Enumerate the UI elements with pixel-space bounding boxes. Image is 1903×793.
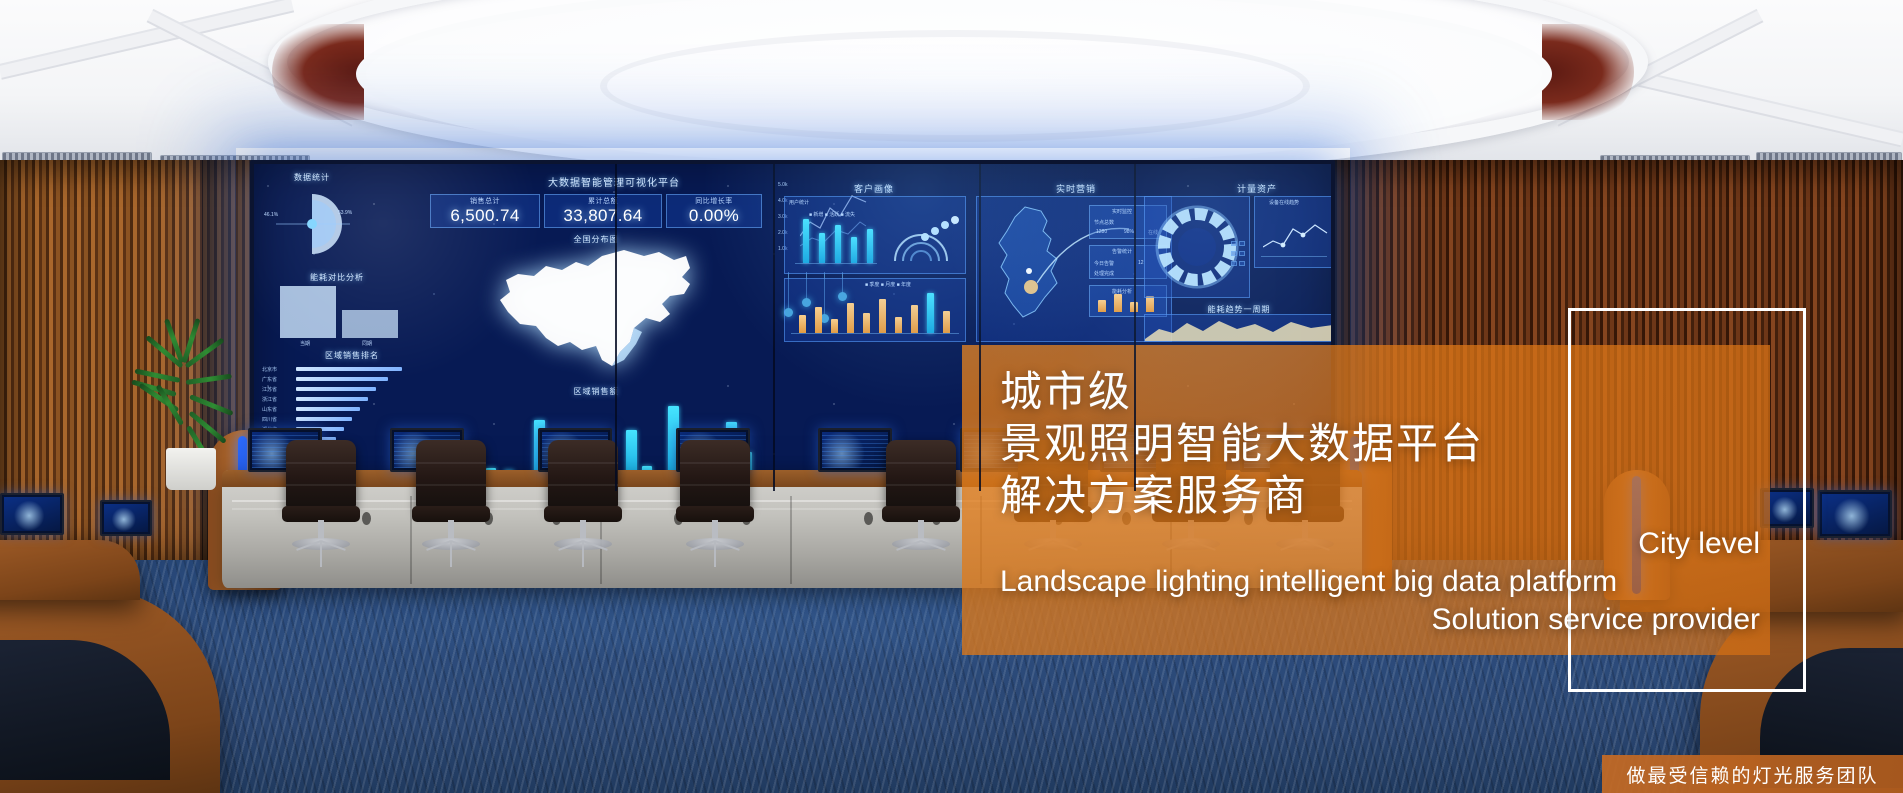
potted-plant-left [120, 330, 260, 510]
kpi-2-value: 33,807.64 [563, 206, 642, 226]
pane-title-realtime-marketing: 实时营销 [976, 182, 1176, 195]
pane-customer-profile-box: 用户统计 ■ 新增 ■ 活跃 ■ 流失 [784, 196, 966, 274]
pane-gauge-title: 数据统计 [262, 172, 362, 183]
side-monitor-left-1[interactable] [0, 493, 64, 535]
kpi-1-label: 销售总计 [470, 196, 500, 206]
subtitle-en-line-2: Landscape lighting intelligent big data … [1000, 565, 1760, 599]
ceiling [0, 0, 1903, 172]
pane-donut-gauge [1144, 196, 1250, 298]
pane-realtime-marketing-box: 实时监控 节点总数 1280 98% 在线 告警统计 今日告警 12 处理完成 … [976, 196, 1172, 342]
subtitle-en-line-3: Solution service provider [1000, 603, 1760, 637]
pane-ranking-title: 区域销售排名 [262, 350, 442, 361]
ceiling-accent-right [1542, 24, 1634, 120]
ceiling-accent-left [272, 24, 364, 120]
tagline-text: 做最受信赖的灯光服务团队 [1626, 761, 1878, 788]
pane-title-metering-assets: 计量资产 [1182, 182, 1332, 195]
headline-block: 城市级 景观照明智能大数据平台 解决方案服务商 [1000, 366, 1760, 522]
pane-gauge: 数据统计 46.1% 53.9% [262, 172, 362, 267]
headline-line-3: 解决方案服务商 [1000, 470, 1760, 522]
side-monitor-left-2[interactable] [100, 500, 152, 536]
screen-seam-3 [979, 164, 981, 491]
kpi-card-1: 销售总计 6,500.74 [430, 194, 540, 228]
workstation-monitor-5[interactable] [818, 428, 892, 472]
kpi-3-label: 同比增长率 [695, 196, 733, 206]
ceiling-ring-inner [600, 30, 1310, 142]
side-monitor-right-1[interactable] [1818, 490, 1892, 538]
tagline-bar: 做最受信赖的灯光服务团队 [1602, 755, 1903, 793]
half-donut-chart [262, 184, 362, 264]
area-sparkline [1145, 315, 1333, 341]
pane-column-chart: 能耗对比分析 当期 同期 [262, 272, 412, 342]
headline-line-1: 城市级 [1000, 366, 1760, 418]
plant-pot [166, 448, 216, 490]
kpi-3-value: 0.00% [689, 206, 739, 226]
pane-line-small: 设备在线趋势 [1254, 196, 1332, 268]
pane-area-chart [1144, 314, 1334, 342]
pane-customer-profile-box2: ■ 季度 ■ 月度 ■ 年度 [784, 278, 966, 342]
china-map [484, 244, 724, 384]
pane-column-title: 能耗对比分析 [262, 272, 412, 283]
radial-gauge [1149, 199, 1245, 295]
chair-backrest [286, 440, 356, 510]
screen-seam-2 [773, 164, 775, 491]
kpi-2-label: 累计总额 [588, 196, 618, 206]
kpi-1-value: 6,500.74 [450, 206, 519, 226]
desk-left-top [0, 540, 140, 600]
screen-seam-1 [615, 164, 617, 491]
screen-seam-4 [1134, 164, 1136, 491]
scene-root: 数据统计 46.1% 53.9% 能耗对比分析 当期 同期 区域销售排名 北京市… [0, 0, 1903, 793]
kpi-card-3: 同比增长率 0.00% [666, 194, 762, 228]
subtitle-en-line-1: City level [1000, 527, 1760, 561]
headline-line-2: 景观照明智能大数据平台 [1000, 418, 1760, 470]
pane-title-customer-profile: 客户画像 [784, 182, 964, 195]
kpi-card-2: 累计总额 33,807.64 [544, 194, 662, 228]
